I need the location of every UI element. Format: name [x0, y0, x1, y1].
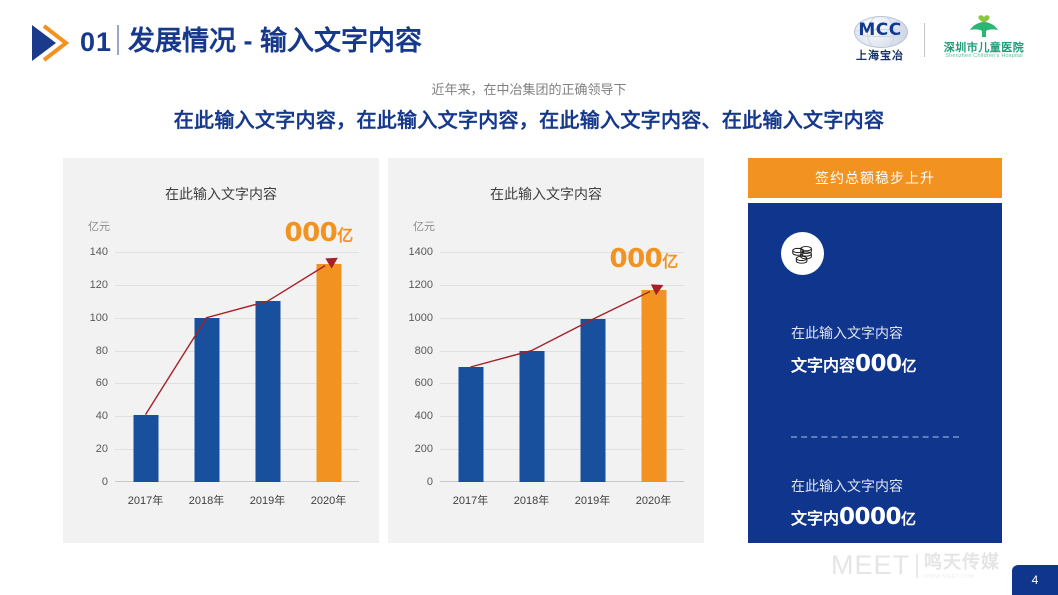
chart-annotation-unit: 亿	[337, 226, 353, 245]
mcc-logo-letters: MCC	[849, 20, 911, 40]
watermark: MEET 鸣天传媒 WWW.MEET.COM	[831, 548, 1000, 581]
chart-y-tick: 60	[96, 377, 108, 389]
chart-x-label: 2018年	[514, 492, 549, 508]
hospital-logo-en: Shenzhen Children's Hospital	[938, 53, 1030, 59]
subtitle-small: 近年来，在中冶集团的正确领导下	[0, 79, 1058, 98]
chart-y-tick: 140	[90, 246, 108, 258]
chart-x-label: 2017年	[128, 492, 163, 508]
chart-y-tick: 600	[415, 377, 433, 389]
bird-heart-icon	[969, 14, 999, 38]
chart-gridline	[440, 285, 684, 286]
chart-card-1: 在此输入文字内容 亿元 0204060801001201402017年2018年…	[63, 158, 379, 543]
chart-plot-area: 0204060801001201402017年2018年2019年2020年	[115, 252, 359, 482]
hospital-logo: 深圳市儿童医院 Shenzhen Children's Hospital	[938, 14, 1030, 66]
chart-x-label: 2020年	[311, 492, 346, 508]
slide-header: 01 发展情况 - 输入文字内容 MCC 上海宝冶 深圳市儿童医院 Shenzh…	[0, 0, 1058, 72]
chart-y-tick: 0	[427, 476, 433, 488]
watermark-url: WWW.MEET.COM	[924, 574, 1000, 580]
right-panel-item-value-2: 文字内0000亿	[791, 504, 916, 530]
chart-bar	[194, 318, 219, 482]
mcc-logo: MCC 上海宝冶	[849, 14, 911, 66]
chart-y-tick: 400	[415, 410, 433, 422]
mcc-logo-cn: 上海宝冶	[849, 47, 911, 63]
chart-bar	[519, 351, 544, 482]
coins-stack-icon	[781, 232, 824, 275]
chart-title: 在此输入文字内容	[388, 184, 704, 204]
chart-bar	[580, 319, 605, 482]
subtitle-big: 在此输入文字内容，在此输入文字内容，在此输入文字内容、在此输入文字内容	[0, 104, 1058, 133]
chart-annotation-number: 000	[610, 244, 663, 274]
chart-annotation: 000亿	[610, 244, 679, 274]
logo-group: MCC 上海宝冶 深圳市儿童医院 Shenzhen Children's Hos…	[849, 14, 1030, 66]
slide-canvas: 01 发展情况 - 输入文字内容 MCC 上海宝冶 深圳市儿童医院 Shenzh…	[0, 0, 1058, 595]
chart-x-label: 2019年	[250, 492, 285, 508]
chart-bar	[255, 301, 280, 482]
right-panel-item-value-1: 文字内容000亿	[791, 351, 917, 377]
chart-y-tick: 200	[415, 443, 433, 455]
chart-y-tick: 0	[102, 476, 108, 488]
watermark-cn-wrap: 鸣天传媒 WWW.MEET.COM	[924, 548, 1000, 580]
section-number: 01	[80, 22, 112, 62]
chart-bar	[316, 264, 341, 483]
watermark-cn: 鸣天传媒	[924, 548, 1000, 574]
chart-bar	[133, 415, 158, 482]
right-panel-header: 签约总额稳步上升	[748, 158, 1002, 198]
chart-annotation-unit: 亿	[662, 252, 678, 271]
chart-bar	[458, 367, 483, 482]
chart-y-tick: 800	[415, 345, 433, 357]
value-unit: 亿	[902, 358, 917, 375]
triangle-arrow-icon	[28, 22, 74, 64]
value-text: 文字内	[791, 511, 839, 528]
chart-y-tick: 1000	[409, 312, 433, 324]
right-panel-item-label-2: 在此输入文字内容	[791, 476, 903, 496]
chart-y-tick: 80	[96, 345, 108, 357]
right-panel-divider	[791, 436, 959, 438]
chart-title: 在此输入文字内容	[63, 184, 379, 204]
chart-y-tick: 1400	[409, 246, 433, 258]
chart-y-tick: 100	[90, 312, 108, 324]
chart-card-2: 在此输入文字内容 亿元 0200400600800100012001400201…	[388, 158, 704, 543]
chart-x-label: 2019年	[575, 492, 610, 508]
page-number-badge: 4	[1012, 565, 1058, 595]
value-unit: 亿	[901, 511, 916, 528]
chart-y-tick: 40	[96, 410, 108, 422]
watermark-en: MEET	[831, 550, 910, 581]
value-text: 文字内容	[791, 358, 855, 375]
value-number: 0000	[839, 504, 901, 530]
chart-y-tick: 120	[90, 279, 108, 291]
page-title: 发展情况 - 输入文字内容	[128, 19, 422, 63]
chart-gridline	[115, 252, 359, 253]
chart-x-label: 2017年	[453, 492, 488, 508]
right-panel-item-label-1: 在此输入文字内容	[791, 323, 903, 343]
chart-x-label: 2018年	[189, 492, 224, 508]
chart-x-label: 2020年	[636, 492, 671, 508]
watermark-divider	[916, 554, 918, 578]
chart-y-unit: 亿元	[413, 218, 435, 234]
chart-y-unit: 亿元	[88, 218, 110, 234]
right-panel-body: 在此输入文字内容 文字内容000亿 在此输入文字内容 文字内0000亿	[748, 203, 1002, 543]
chart-bar	[641, 290, 666, 482]
chart-y-tick: 20	[96, 443, 108, 455]
chart-y-tick: 1200	[409, 279, 433, 291]
title-separator	[117, 25, 119, 55]
logo-divider	[924, 23, 925, 57]
chart-annotation: 000亿	[285, 218, 354, 248]
chart-plot-area: 02004006008001000120014002017年2018年2019年…	[440, 252, 684, 482]
value-number: 000	[855, 351, 902, 377]
chart-annotation-number: 000	[285, 218, 338, 248]
